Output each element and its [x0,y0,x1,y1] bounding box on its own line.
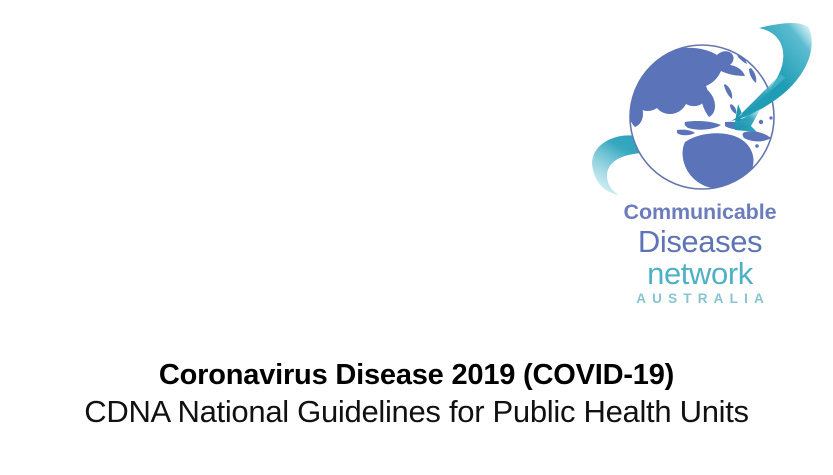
page-title: Coronavirus Disease 2019 (COVID-19) [0,358,833,393]
logo-wordmark: Communicable Diseases network AUSTRALIA [585,202,815,305]
document-page: Communicable Diseases network AUSTRALIA … [0,0,833,475]
cover-title-block: Coronavirus Disease 2019 (COVID-19) CDNA… [0,358,833,432]
cdna-logo: Communicable Diseases network AUSTRALIA [585,22,815,334]
globe-with-orbit-icon [585,22,815,207]
logo-wordmark-line-diseases: Diseases [585,226,815,257]
logo-wordmark-line-australia: AUSTRALIA [585,292,815,306]
logo-wordmark-line-communicable: Communicable [585,202,815,224]
logo-wordmark-line-network: network [585,258,815,289]
page-subtitle: CDNA National Guidelines for Public Heal… [0,393,833,431]
